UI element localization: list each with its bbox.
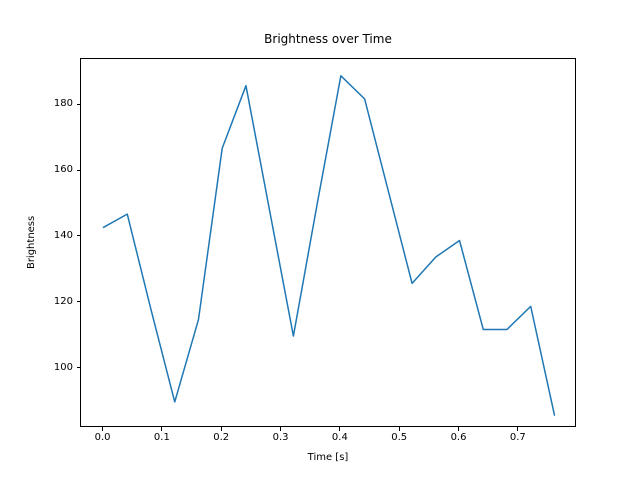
y-tick-mark: [77, 170, 81, 171]
x-tick-mark: [458, 427, 459, 431]
x-tick-label: 0.1: [142, 432, 182, 443]
x-tick-label: 0.0: [83, 432, 123, 443]
y-tick-mark: [77, 301, 81, 302]
chart-title: Brightness over Time: [80, 32, 576, 46]
x-tick-label: 0.4: [320, 432, 360, 443]
y-tick-label: 120: [29, 296, 73, 307]
x-tick-mark: [102, 427, 103, 431]
x-tick-mark: [399, 427, 400, 431]
y-tick-label: 100: [29, 362, 73, 373]
x-tick-mark: [517, 427, 518, 431]
x-tick-mark: [280, 427, 281, 431]
y-tick-label: 160: [29, 164, 73, 175]
y-tick-mark: [77, 367, 81, 368]
x-axis-label: Time [s]: [80, 452, 576, 463]
y-tick-label: 180: [29, 98, 73, 109]
brightness-line: [104, 75, 555, 414]
plot-axes: [80, 58, 576, 428]
line-series-svg: [81, 59, 575, 427]
x-tick-mark: [339, 427, 340, 431]
x-tick-label: 0.7: [498, 432, 538, 443]
x-tick-label: 0.6: [439, 432, 479, 443]
x-tick-mark: [221, 427, 222, 431]
y-tick-label: 140: [29, 230, 73, 241]
matplotlib-figure: Brightness over Time Brightness 0.00.10.…: [0, 0, 640, 480]
x-tick-label: 0.2: [201, 432, 241, 443]
x-tick-label: 0.5: [379, 432, 419, 443]
y-tick-mark: [77, 104, 81, 105]
x-tick-mark: [161, 427, 162, 431]
y-tick-mark: [77, 235, 81, 236]
x-tick-label: 0.3: [261, 432, 301, 443]
